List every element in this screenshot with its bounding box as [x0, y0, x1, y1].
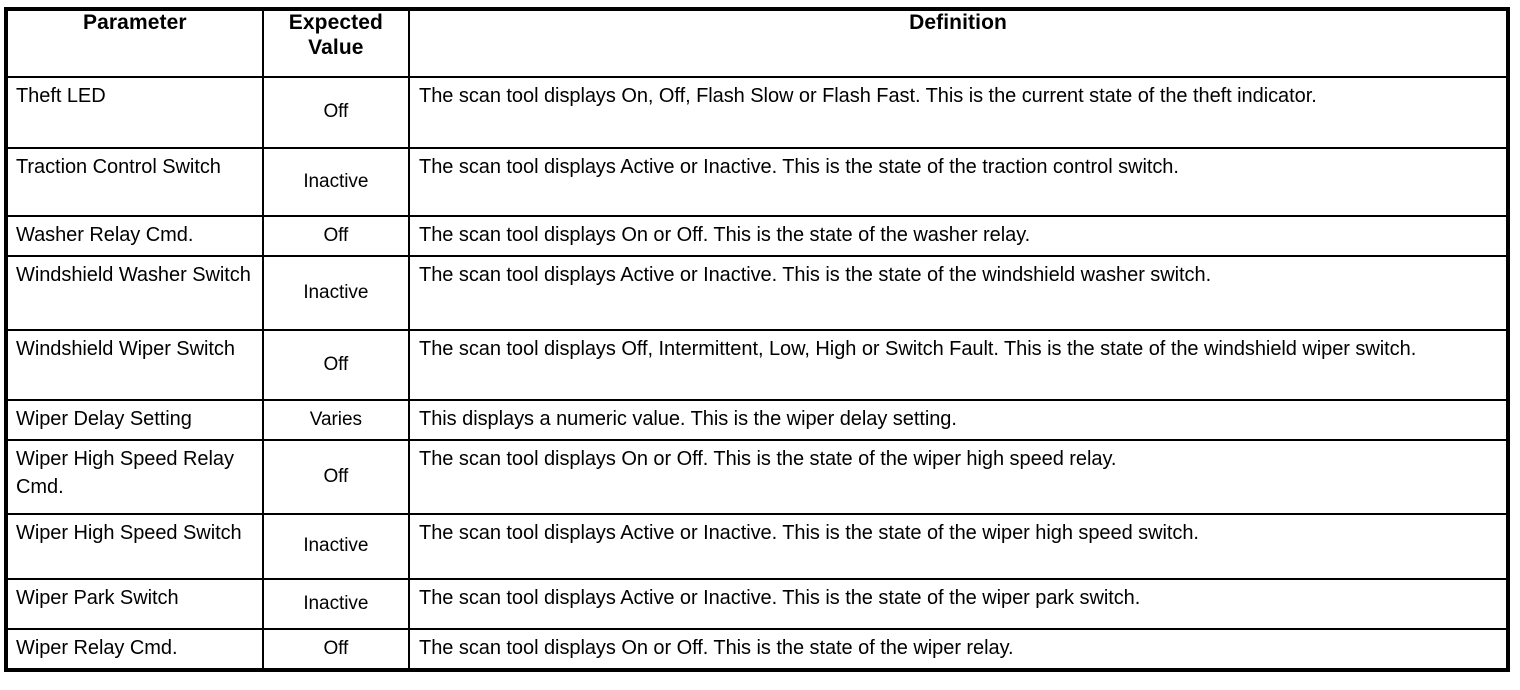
cell-expected-value: Inactive [263, 256, 409, 330]
table-row: Washer Relay Cmd. Off The scan tool disp… [6, 216, 1508, 256]
column-header-expected-value-line2: Value [308, 36, 363, 59]
table-row: Windshield Wiper Switch Off The scan too… [6, 330, 1508, 400]
cell-parameter: Wiper High Speed Switch [6, 514, 263, 579]
table-row: Wiper High Speed Relay Cmd. Off The scan… [6, 440, 1508, 514]
table-row: Wiper Relay Cmd. Off The scan tool displ… [6, 629, 1508, 670]
cell-parameter: Traction Control Switch [6, 148, 263, 216]
cell-expected-value: Varies [263, 400, 409, 440]
cell-parameter: Windshield Wiper Switch [6, 330, 263, 400]
cell-expected-value: Off [263, 629, 409, 670]
table-row: Windshield Washer Switch Inactive The sc… [6, 256, 1508, 330]
cell-definition: The scan tool displays Active or Inactiv… [409, 256, 1508, 330]
cell-definition: The scan tool displays Off, Intermittent… [409, 330, 1508, 400]
cell-definition: The scan tool displays On or Off. This i… [409, 216, 1508, 256]
table-header-row: Parameter Expected Value Definition [6, 9, 1508, 77]
cell-expected-value: Off [263, 216, 409, 256]
cell-parameter: Theft LED [6, 77, 263, 148]
column-header-expected-value-line1: Expected [289, 11, 383, 34]
cell-parameter: Washer Relay Cmd. [6, 216, 263, 256]
table-row: Wiper Park Switch Inactive The scan tool… [6, 579, 1508, 629]
page-root: Parameter Expected Value Definition Thef… [0, 0, 1520, 690]
table-body: Theft LED Off The scan tool displays On,… [6, 77, 1508, 670]
table-row: Wiper High Speed Switch Inactive The sca… [6, 514, 1508, 579]
cell-definition: The scan tool displays Active or Inactiv… [409, 579, 1508, 629]
column-header-parameter: Parameter [6, 9, 263, 77]
parameter-definition-table: Parameter Expected Value Definition Thef… [4, 7, 1510, 672]
cell-expected-value: Off [263, 440, 409, 514]
cell-expected-value: Inactive [263, 579, 409, 629]
cell-expected-value: Inactive [263, 514, 409, 579]
cell-parameter: Wiper High Speed Relay Cmd. [6, 440, 263, 514]
cell-expected-value: Off [263, 77, 409, 148]
cell-parameter: Wiper Relay Cmd. [6, 629, 263, 670]
cell-definition: The scan tool displays On or Off. This i… [409, 629, 1508, 670]
cell-parameter: Wiper Delay Setting [6, 400, 263, 440]
table-header: Parameter Expected Value Definition [6, 9, 1508, 77]
cell-definition: The scan tool displays On or Off. This i… [409, 440, 1508, 514]
cell-definition: The scan tool displays On, Off, Flash Sl… [409, 77, 1508, 148]
table-row: Theft LED Off The scan tool displays On,… [6, 77, 1508, 148]
cell-parameter: Windshield Washer Switch [6, 256, 263, 330]
cell-definition: The scan tool displays Active or Inactiv… [409, 148, 1508, 216]
cell-definition: The scan tool displays Active or Inactiv… [409, 514, 1508, 579]
table-row: Traction Control Switch Inactive The sca… [6, 148, 1508, 216]
table-row: Wiper Delay Setting Varies This displays… [6, 400, 1508, 440]
column-header-definition: Definition [409, 9, 1508, 77]
cell-definition: This displays a numeric value. This is t… [409, 400, 1508, 440]
cell-expected-value: Inactive [263, 148, 409, 216]
cell-parameter: Wiper Park Switch [6, 579, 263, 629]
cell-expected-value: Off [263, 330, 409, 400]
column-header-expected-value: Expected Value [263, 9, 409, 77]
